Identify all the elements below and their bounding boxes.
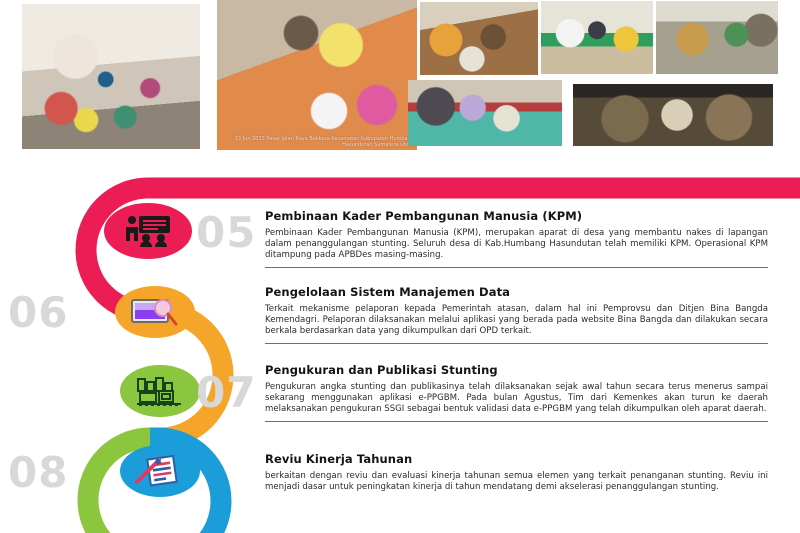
data-monitor-magnifier-icon [122, 294, 188, 330]
photo-evening-visit [573, 84, 773, 146]
step-number-06: 06 [8, 288, 68, 337]
photo-collage: 13 Jun 2023 Pasar Jalan Raya Bakkara Kec… [0, 0, 800, 162]
step-body-06: Terkait mekanisme pelaporan kepada Pemer… [265, 304, 768, 338]
step-number-05: 05 [196, 208, 256, 257]
timeline-text-column: Pembinaan Kader Pembangunan Manusia (KPM… [265, 168, 775, 533]
divider-06 [265, 343, 768, 344]
photo-feeding-demo: 13 Jun 2023 Pasar Jalan Raya Bakkara Kec… [217, 0, 417, 150]
photo-outdoor-measure [656, 1, 778, 74]
photo-data-desk [541, 1, 653, 74]
step-block-06: Pengelolaan Sistem Manajemen Data Terkai… [265, 286, 768, 350]
step-title-06: Pengelolaan Sistem Manajemen Data [265, 286, 768, 300]
photo-home-visit [420, 2, 538, 75]
step-block-08: Reviu Kinerja Tahunan berkaitan dengan r… [265, 453, 768, 493]
divider-05 [265, 267, 768, 268]
photo-timestamp-caption: 13 Jun 2023 Pasar Jalan Raya Bakkara Kec… [217, 136, 414, 148]
growth-measurement-chart-icon [127, 373, 193, 409]
infographic-page: 13 Jun 2023 Pasar Jalan Raya Bakkara Kec… [0, 0, 800, 533]
step-block-05: Pembinaan Kader Pembangunan Manusia (KPM… [265, 210, 768, 274]
photo-family-counsel [408, 80, 562, 146]
step-number-08: 08 [8, 448, 68, 497]
step-body-05: Pembinaan Kader Pembangunan Manusia (KPM… [265, 228, 768, 262]
step-body-08: berkaitan dengan reviu dan evaluasi kine… [265, 471, 768, 494]
training-presentation-icon [112, 211, 184, 251]
step-body-07: Pengukuran angka stunting dan publikasin… [265, 382, 768, 416]
step-number-07: 07 [196, 368, 256, 417]
step-title-07: Pengukuran dan Publikasi Stunting [265, 364, 768, 378]
step-block-07: Pengukuran dan Publikasi Stunting Penguk… [265, 364, 768, 428]
divider-07 [265, 421, 768, 422]
photo-posyandu-group [22, 4, 200, 149]
step-title-05: Pembinaan Kader Pembangunan Manusia (KPM… [265, 210, 768, 224]
clipboard-review-pen-icon [127, 453, 193, 489]
step-title-08: Reviu Kinerja Tahunan [265, 453, 768, 467]
